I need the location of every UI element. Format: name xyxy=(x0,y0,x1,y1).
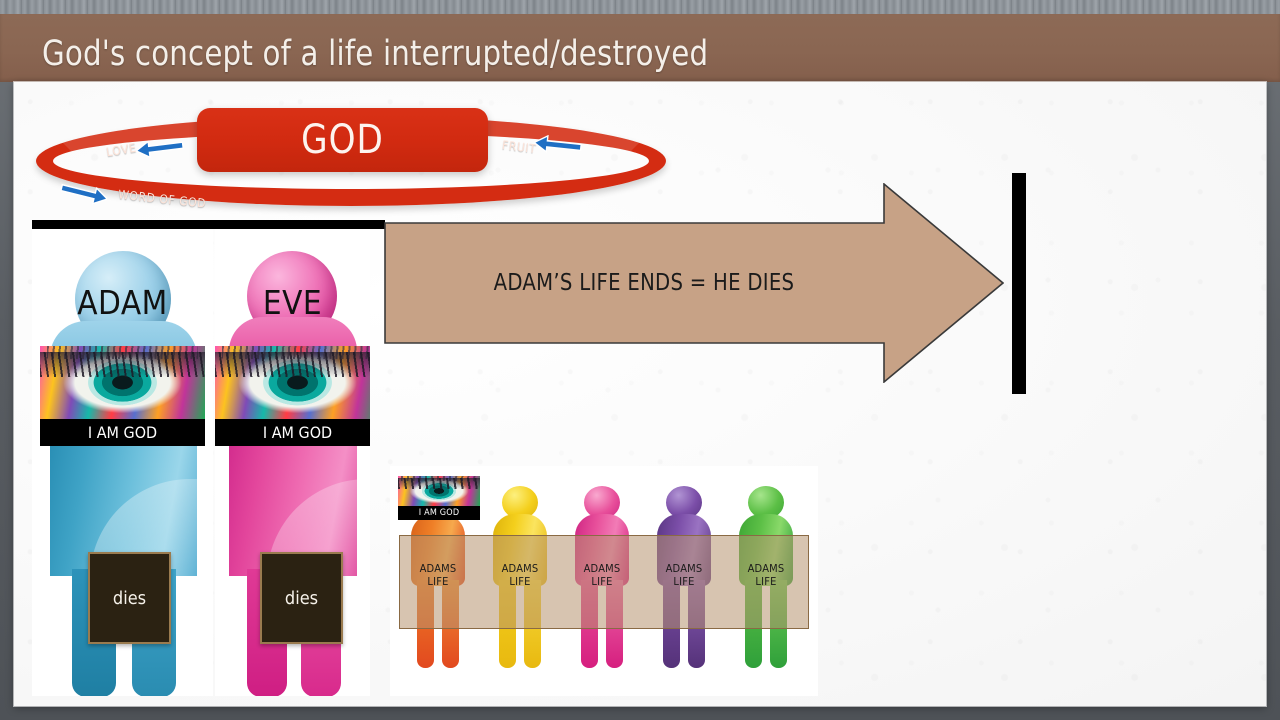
window-top-strip xyxy=(0,0,1280,14)
adam-status-box: dies xyxy=(88,552,171,644)
eyelash-detail xyxy=(215,352,370,377)
adam-eye-image xyxy=(40,346,205,419)
page-title: God's concept of a life interrupted/dest… xyxy=(42,34,708,74)
adam-name-text: ADAM xyxy=(77,283,168,322)
mini-i-am-god-text: I AM GOD xyxy=(419,508,460,518)
eve-name-label: EVE xyxy=(215,283,370,322)
eyelash-detail xyxy=(40,352,205,377)
presentation-slide: God's concept of a life interrupted/dest… xyxy=(0,0,1280,720)
eyelash-detail xyxy=(398,478,480,488)
god-label: GOD xyxy=(301,117,384,163)
divider-rule xyxy=(32,220,385,229)
adams-life-band xyxy=(399,535,809,629)
adam-status-text: dies xyxy=(113,588,146,609)
timeline-end-wall xyxy=(1012,173,1026,394)
adam-name-label: ADAM xyxy=(32,283,213,322)
adams-life-figures-card: ADAMS LIFE ADAMS LIFE ADAMS LIFE ADAMS L… xyxy=(390,466,818,696)
adam-i-am-god-bar: I AM GOD xyxy=(40,419,205,446)
eve-i-am-god-bar: I AM GOD xyxy=(215,419,370,446)
eve-status-box: dies xyxy=(260,552,343,644)
slide-title-band: God's concept of a life interrupted/dest… xyxy=(0,14,1280,82)
mini-eye-image xyxy=(398,476,480,506)
eve-i-am-god-text: I AM GOD xyxy=(263,423,332,442)
mini-i-am-god-bar: I AM GOD xyxy=(398,506,480,520)
life-ends-arrow: ADAM’S LIFE ENDS = HE DIES xyxy=(384,183,1004,383)
eve-status-text: dies xyxy=(285,588,318,609)
adam-i-am-god-text: I AM GOD xyxy=(88,423,157,442)
eve-eye-image xyxy=(215,346,370,419)
eve-name-text: EVE xyxy=(263,283,322,322)
god-box: GOD xyxy=(197,108,488,172)
adams-life-eye-badge: I AM GOD xyxy=(398,476,480,520)
